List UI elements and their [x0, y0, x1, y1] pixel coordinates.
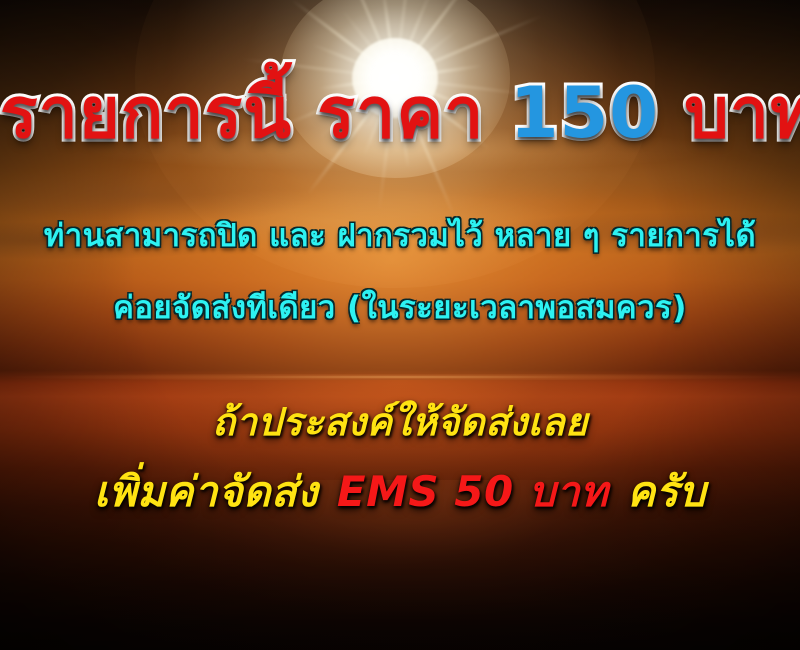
- body-line-1: ท่านสามารถปิด และ ฝากรวมไว้ หลาย ๆ รายกา…: [0, 221, 800, 252]
- promotional-banner: รายการนี้ ราคา 150 บาท ท่านสามารถปิด และ…: [0, 0, 800, 650]
- shipping-fee-suffix: ครับ: [627, 467, 706, 516]
- shipping-ems-amount: EMS 50 บาท: [337, 467, 608, 516]
- headline-currency: บาท: [659, 72, 800, 154]
- shipping-fee-prefix: เพิ่มค่าจัดส่ง: [94, 467, 318, 516]
- shipping-line-2: เพิ่มค่าจัดส่งEMS 50 บาทครับ: [0, 471, 800, 513]
- shipping-line-1: ถ้าประสงค์ให้จัดส่งเลย: [0, 403, 800, 441]
- banner-text-layer: รายการนี้ ราคา 150 บาท ท่านสามารถปิด และ…: [0, 0, 800, 650]
- shipping-line-1-text: ถ้าประสงค์ให้จัดส่งเลย: [212, 400, 588, 444]
- headline-prefix: รายการนี้ ราคา: [0, 72, 510, 154]
- body-line-2: ค่อยจัดส่งทีเดียว (ในระยะเวลาพอสมควร): [0, 293, 800, 324]
- headline-price: รายการนี้ ราคา 150 บาท: [0, 78, 800, 148]
- headline-price-value: 150: [510, 72, 659, 154]
